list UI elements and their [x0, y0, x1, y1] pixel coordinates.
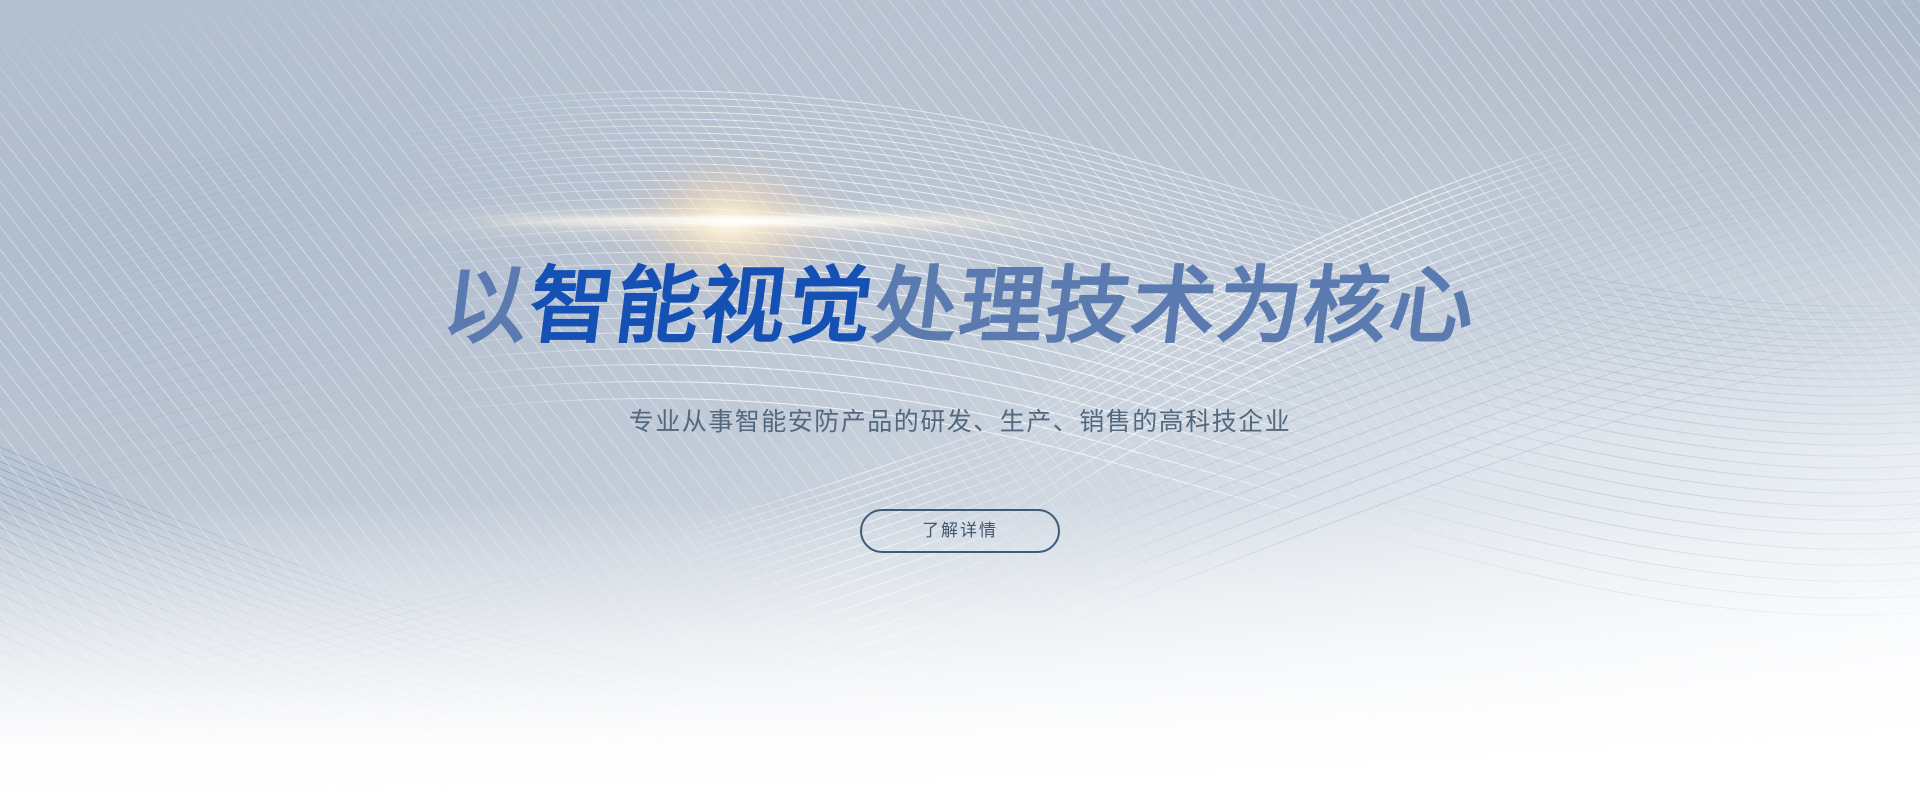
headline-segment-2: 智能视觉 [524, 257, 880, 355]
hero-banner: 以智能视觉处理技术为核心 专业从事智能安防产品的研发、生产、销售的高科技企业 了… [0, 0, 1920, 800]
learn-more-button[interactable]: 了解详情 [860, 509, 1060, 553]
hero-cta-container: 了解详情 [0, 509, 1920, 553]
hero-subtitle: 专业从事智能安防产品的研发、生产、销售的高科技企业 [0, 404, 1920, 440]
headline-segment-1: 以 [438, 257, 536, 355]
hero-headline: 以智能视觉处理技术为核心 [0, 258, 1920, 354]
headline-segment-3: 处理技术为核心 [868, 257, 1482, 355]
hero-content: 以智能视觉处理技术为核心 专业从事智能安防产品的研发、生产、销售的高科技企业 了… [0, 0, 1920, 800]
